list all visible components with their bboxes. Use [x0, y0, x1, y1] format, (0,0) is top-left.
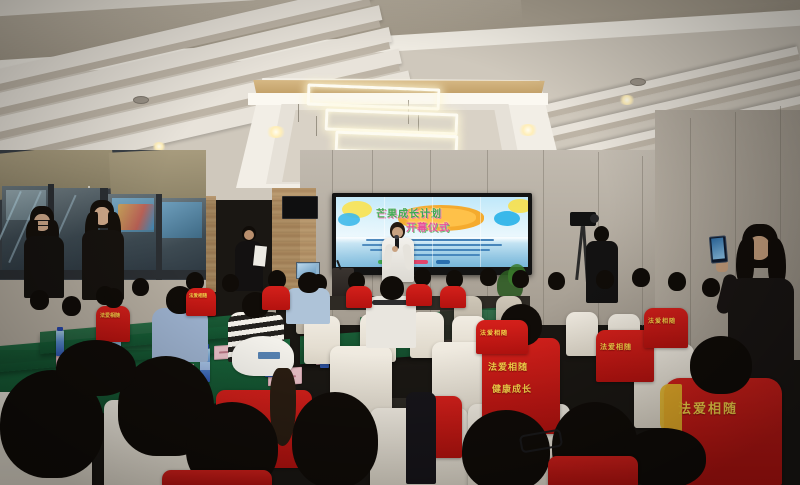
chair [566, 312, 598, 356]
led-video-wall[interactable]: 芒果成长计划 开幕仪式 [332, 193, 532, 275]
volunteer-vest [346, 286, 372, 308]
woman-long-hair [80, 200, 126, 300]
photo-scene: 芒果成长计划 开幕仪式 [0, 0, 800, 485]
attendee-blue-shirt [152, 308, 208, 362]
volunteer-vest [440, 286, 466, 308]
vest-text: 法爱相随 [189, 293, 207, 299]
volunteer-vest [644, 308, 688, 348]
volunteer-vest [406, 284, 432, 306]
downlight-right [517, 124, 539, 136]
ceiling-speaker-right [630, 78, 646, 86]
vest-text: 法爱相随 [100, 312, 120, 319]
vest-text: 法爱相随 [600, 342, 632, 352]
videographer-with-tripod-camera [576, 212, 620, 308]
screen-content: 芒果成长计划 开幕仪式 [336, 197, 528, 267]
speaker [378, 222, 418, 284]
cap-logo [258, 352, 280, 359]
attendee-head [690, 336, 752, 394]
downlight-left [265, 126, 287, 138]
volunteer-vest [476, 320, 528, 354]
volunteer-vest [548, 456, 638, 485]
volunteer-vest [162, 470, 272, 485]
vest-text-line-1: 法爱相随 [488, 360, 528, 373]
foreground-head [292, 392, 378, 485]
woman-with-glasses [22, 206, 66, 298]
ceiling-speaker-left [133, 96, 149, 104]
vest-text: 法爱相随 [480, 328, 508, 337]
attendee-light-blue [286, 288, 330, 324]
vest-text-right: 法爱相随 [678, 398, 738, 417]
wall-mounted-display[interactable] [282, 196, 318, 219]
volunteer-vest [262, 286, 290, 310]
vest-text-line-2: 健康成长 [492, 382, 532, 395]
paper-sheet [253, 245, 267, 266]
foreground-head [56, 340, 136, 396]
downlight-far-right [618, 95, 636, 105]
vest-text: 法爱相随 [648, 316, 676, 325]
